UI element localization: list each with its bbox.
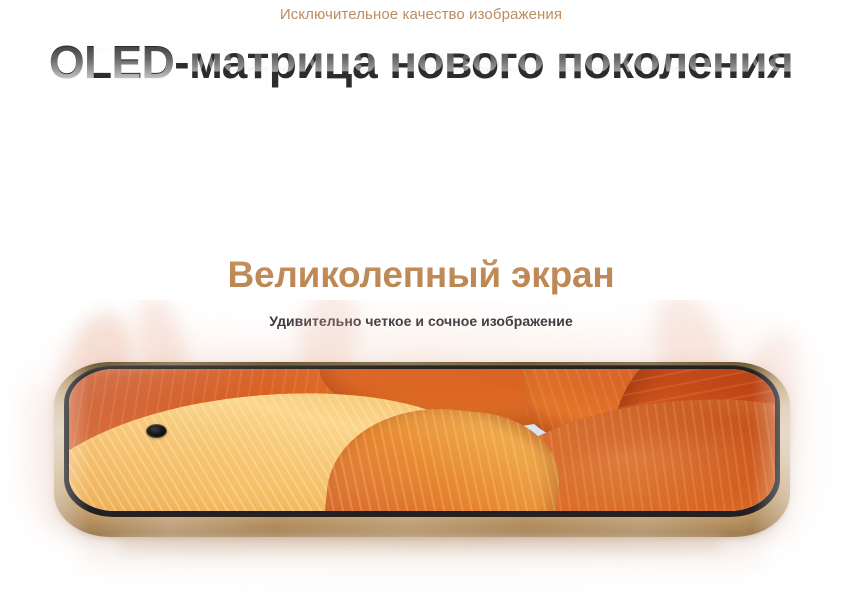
device-screen xyxy=(69,369,775,511)
hero-image xyxy=(0,300,842,603)
hero-fade-bottom xyxy=(0,533,842,603)
device-surface-reflection-core xyxy=(120,534,720,560)
device-bezel xyxy=(64,365,780,517)
front-camera-icon xyxy=(147,425,166,437)
eyebrow-text: Исключительное качество изображения xyxy=(0,6,842,23)
headline-block: OLED-матрица нового поколения OLED-матри… xyxy=(0,36,842,146)
section-title: Великолепный экран xyxy=(0,254,842,296)
promo-page: Исключительное качество изображения OLED… xyxy=(0,0,842,603)
smartphone-device xyxy=(54,362,790,537)
device-surface-reflection xyxy=(72,536,772,594)
page-title: OLED-матрица нового поколения xyxy=(0,36,842,88)
